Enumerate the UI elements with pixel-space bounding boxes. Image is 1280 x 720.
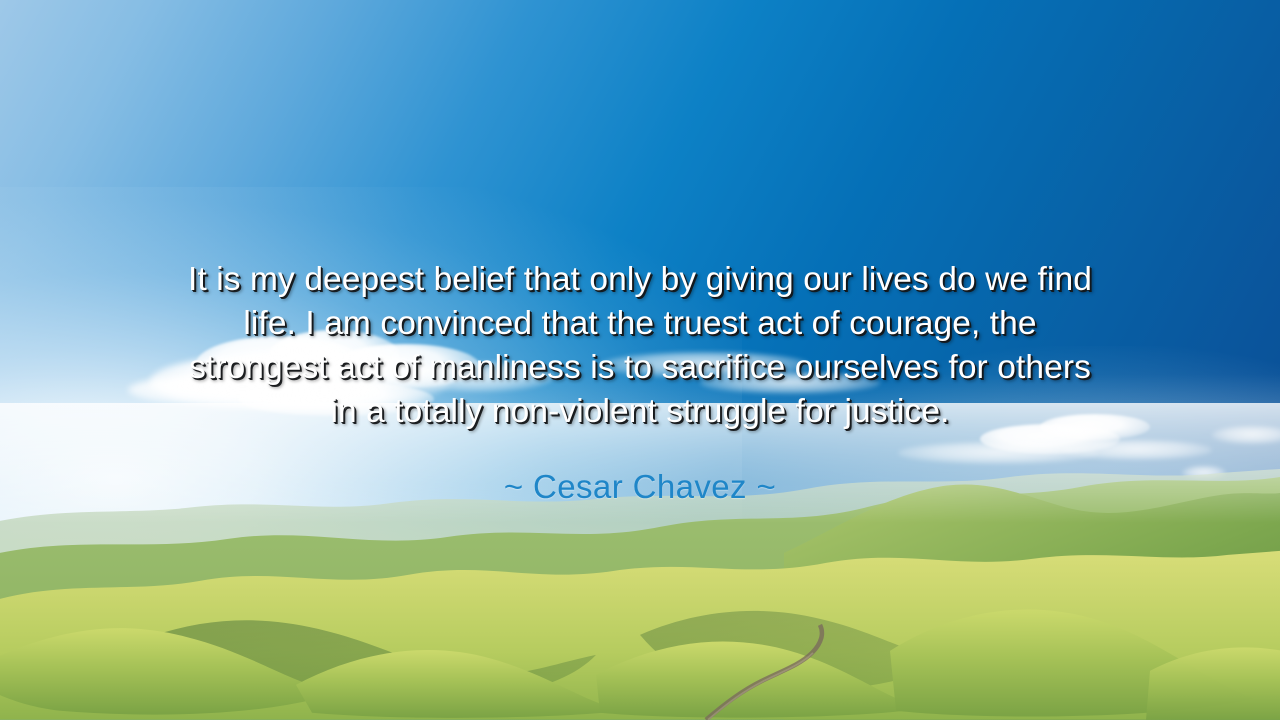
quote-text: It is my deepest belief that only by giv… [118, 258, 1162, 434]
rolling-hills-landscape [0, 403, 1280, 720]
quote-wallpaper: It is my deepest belief that only by giv… [0, 0, 1280, 720]
quote-attribution: ~ Cesar Chavez ~ [0, 466, 1280, 508]
quote-block: It is my deepest belief that only by giv… [0, 258, 1280, 434]
